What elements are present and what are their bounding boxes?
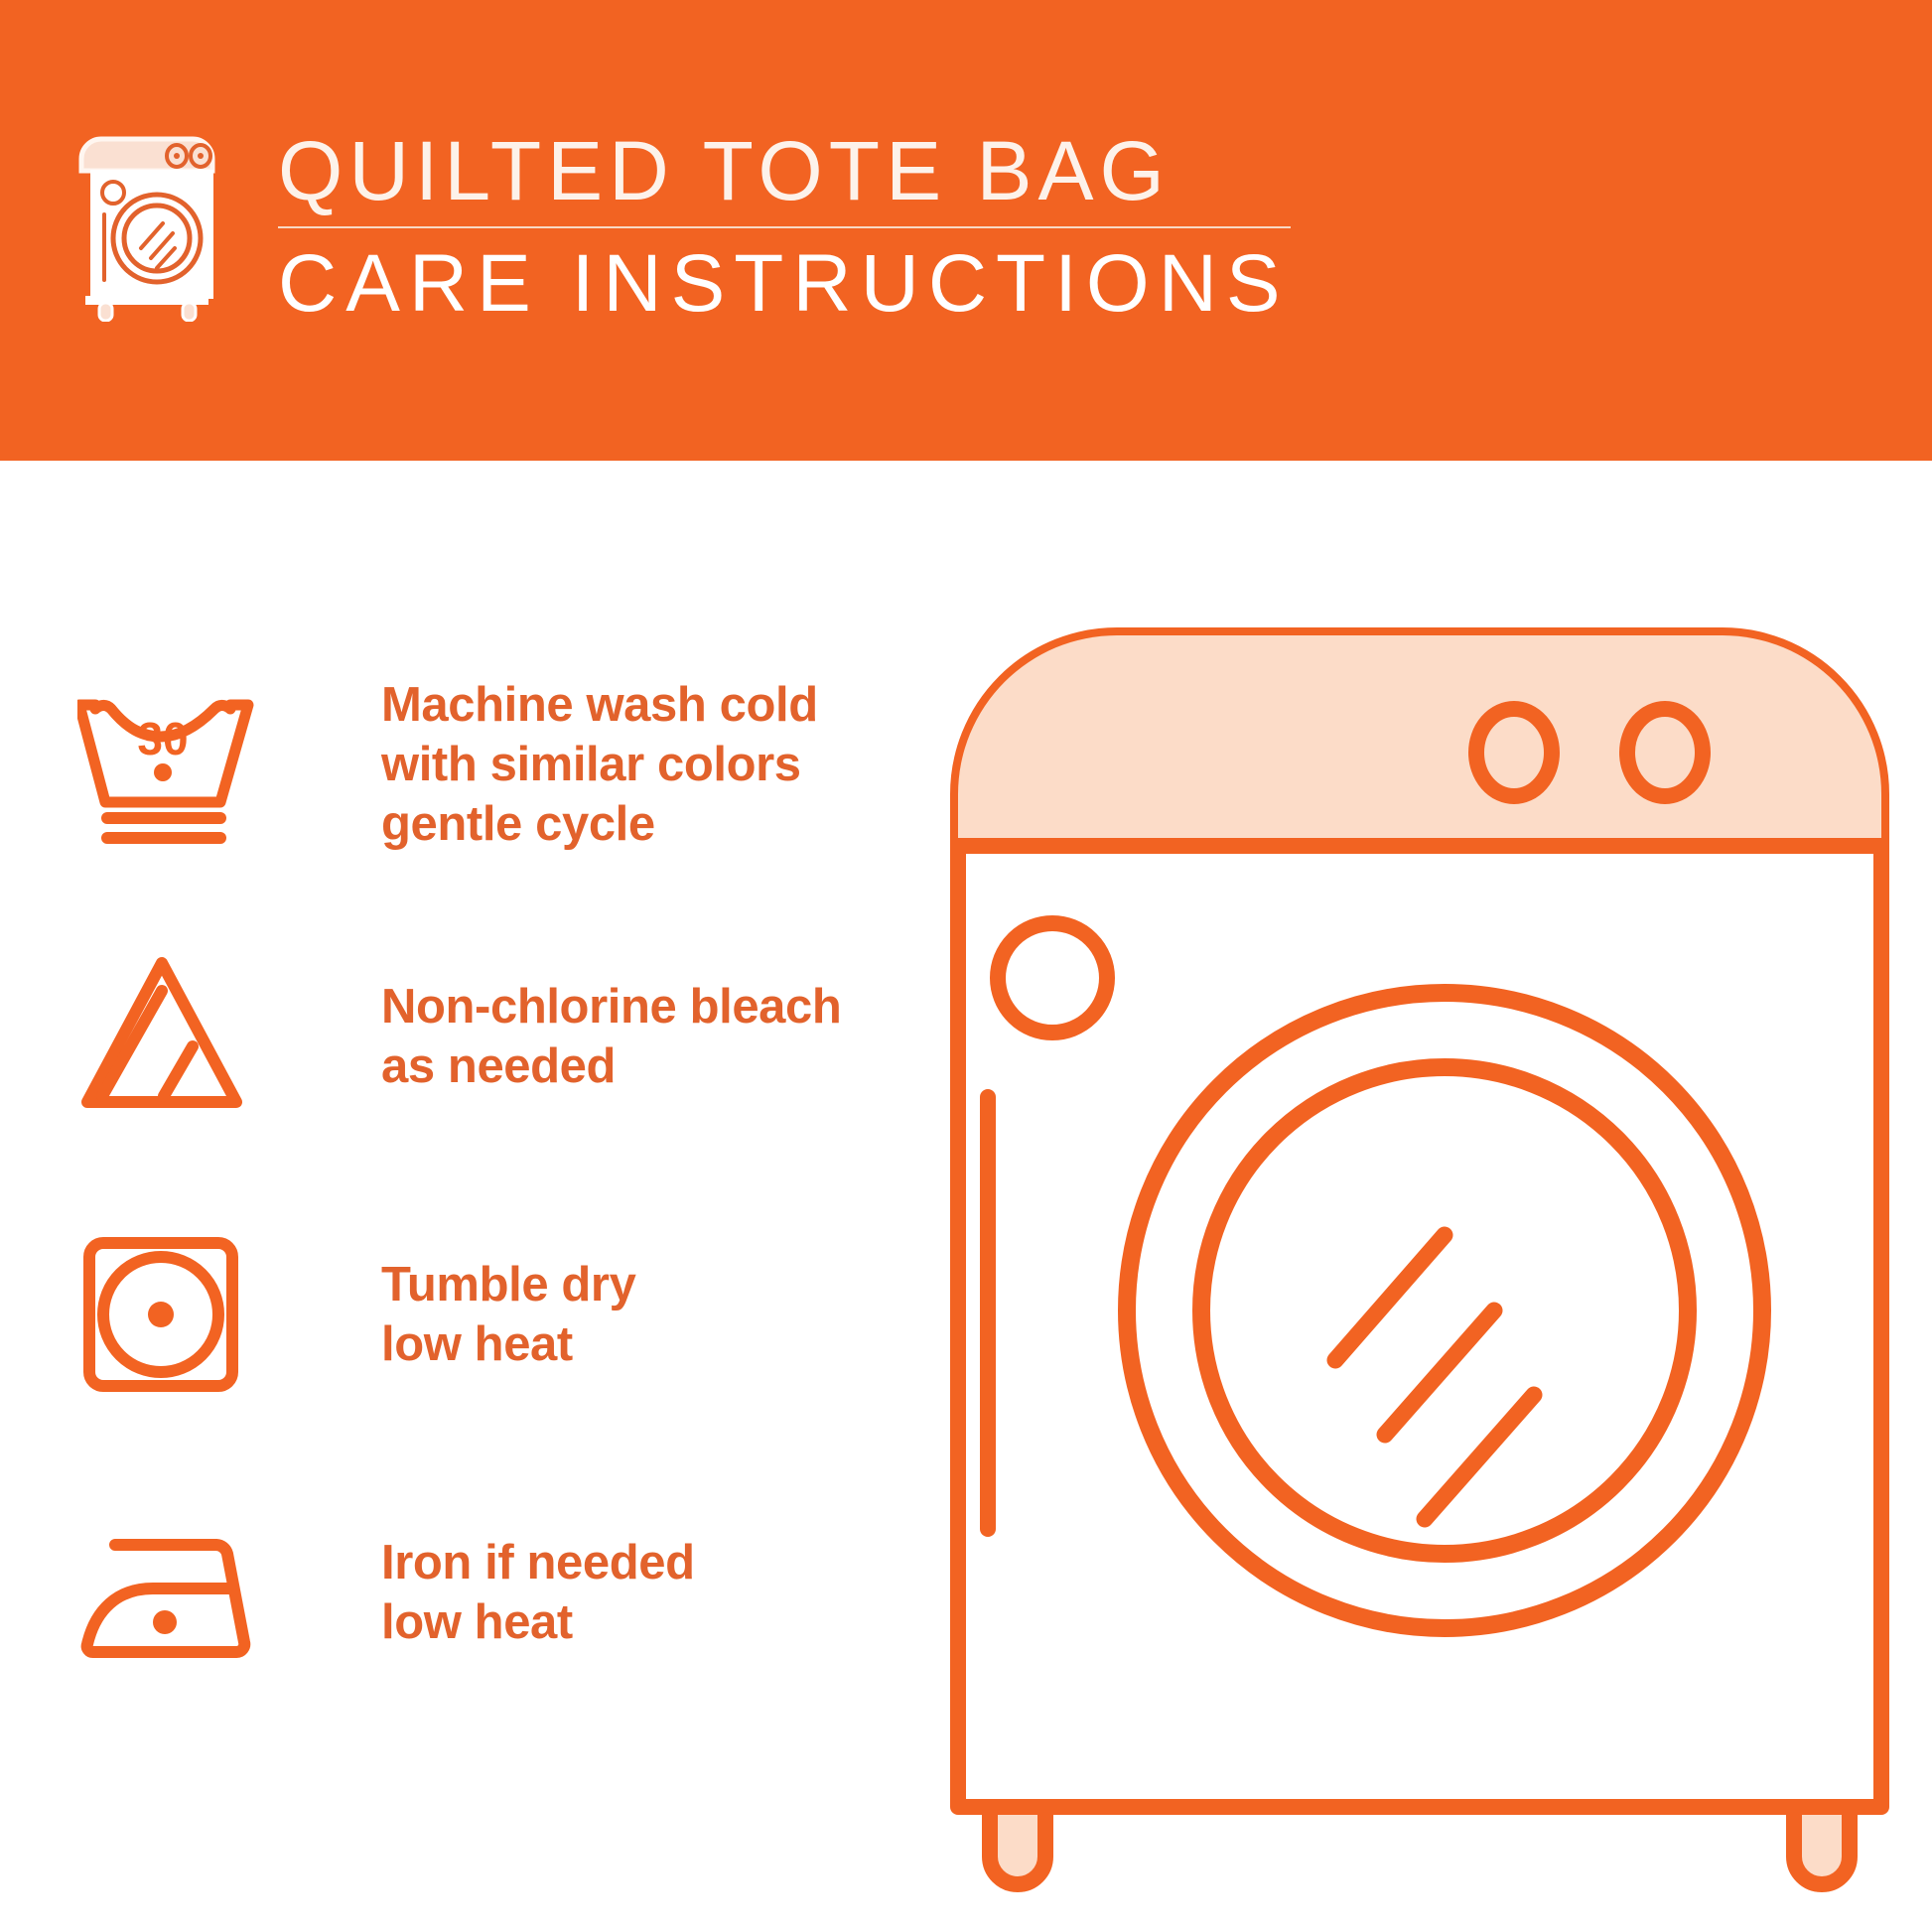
care-label-line: as needed <box>381 1036 841 1096</box>
care-label-line: Machine wash cold <box>381 675 818 735</box>
care-item-bleach: Non-chlorine bleach as needed <box>77 947 901 1126</box>
header-divider <box>278 226 1291 228</box>
washing-machine-illustration <box>948 625 1891 1906</box>
care-label-line: Tumble dry <box>381 1255 635 1314</box>
care-label-line: with similar colors <box>381 735 818 794</box>
care-item-machine-wash: 30 Machine wash cold with similar colors… <box>77 675 901 854</box>
page-subtitle: CARE INSTRUCTIONS <box>278 238 1325 330</box>
tumble-dry-low-heat-icon <box>77 1225 276 1404</box>
care-instructions-infographic: QUILTED TOTE BAG CARE INSTRUCTIONS 30 Ma… <box>0 0 1932 1932</box>
care-label-line: low heat <box>381 1592 695 1652</box>
washer-control-panel <box>958 635 1881 846</box>
non-chlorine-bleach-triangle-icon <box>77 947 276 1126</box>
care-item-label: Machine wash cold with similar colors ge… <box>381 675 818 854</box>
washing-machine-icon <box>77 131 216 322</box>
care-label-line: Iron if needed <box>381 1533 695 1592</box>
iron-low-heat-icon <box>77 1503 276 1682</box>
wash-basin-30-gentle-icon: 30 <box>77 675 276 854</box>
header-content: QUILTED TOTE BAG CARE INSTRUCTIONS <box>77 127 1328 344</box>
care-label-line: low heat <box>381 1314 635 1374</box>
care-item-iron: Iron if needed low heat <box>77 1503 901 1682</box>
care-label-line: Non-chlorine bleach <box>381 977 841 1036</box>
header-band: QUILTED TOTE BAG CARE INSTRUCTIONS <box>0 0 1932 461</box>
care-label-line: gentle cycle <box>381 794 818 854</box>
care-instruction-list: 30 Machine wash cold with similar colors… <box>0 461 953 1932</box>
care-item-label: Non-chlorine bleach as needed <box>381 977 841 1096</box>
wash-temperature-label: 30 <box>137 713 188 764</box>
care-item-label: Tumble dry low heat <box>381 1255 635 1374</box>
care-item-tumble-dry: Tumble dry low heat <box>77 1225 901 1404</box>
header-text-block: QUILTED TOTE BAG CARE INSTRUCTIONS <box>278 127 1325 330</box>
care-item-label: Iron if needed low heat <box>381 1533 695 1652</box>
page-title: QUILTED TOTE BAG <box>278 127 1325 214</box>
